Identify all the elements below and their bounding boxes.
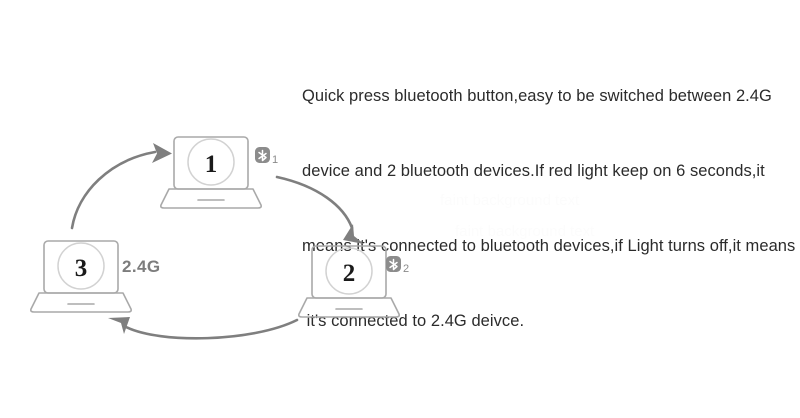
arrow-1-to-2-path — [277, 177, 352, 228]
arrow-1-to-2 — [277, 177, 364, 244]
laptop-2-base — [299, 298, 399, 317]
laptop-2-number: 2 — [343, 260, 356, 287]
bluetooth-icon — [255, 147, 270, 163]
bluetooth-icon — [386, 256, 401, 272]
arrow-3-to-1-path — [72, 152, 155, 228]
arrow-2-to-3 — [108, 317, 297, 338]
arrow-3-to-1 — [72, 143, 172, 228]
watermark-line-1: faint background text — [440, 192, 580, 209]
watermark-line-2: faint background text — [455, 223, 595, 240]
laptop-2: 2 — [299, 246, 399, 317]
arrow-2-to-3-head — [108, 317, 130, 334]
device-switch-cycle-diagram: faint background text faint background t… — [0, 0, 800, 418]
wireless-24g-label: 2.4G — [122, 257, 160, 276]
bluetooth-icon-2-group: 2 — [386, 256, 409, 275]
diagram-canvas: Quick press bluetooth button,easy to be … — [0, 0, 800, 418]
bluetooth-subscript-2: 2 — [403, 263, 409, 275]
laptop-1: 1 — [161, 137, 261, 208]
laptop-1-number: 1 — [205, 151, 218, 178]
bluetooth-subscript-1: 1 — [272, 154, 278, 166]
arrow-2-to-3-path — [126, 320, 297, 338]
arrow-1-to-2-head — [343, 224, 364, 244]
bluetooth-icon-1-group: 1 — [255, 147, 278, 166]
laptop-3-base — [31, 293, 131, 312]
laptop-1-base — [161, 189, 261, 208]
laptop-3-number: 3 — [75, 255, 88, 282]
laptop-3: 3 — [31, 241, 131, 312]
watermark-ghost-text: faint background text faint background t… — [440, 192, 595, 240]
